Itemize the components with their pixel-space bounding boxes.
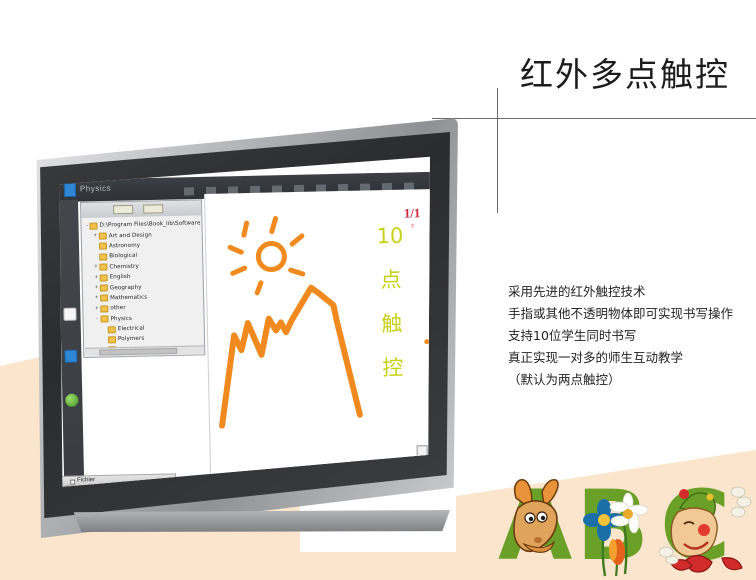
whiteboard-canvas[interactable]: 1/1 页 10 点 触 控 bbox=[204, 189, 430, 492]
abc-decoration: A B C bbox=[498, 478, 756, 580]
feature-item: 支持10位学生同时书写 bbox=[508, 325, 756, 347]
folder-icon bbox=[99, 253, 107, 260]
screen: Physics -D:\Program Files\Book_lib\Softw… bbox=[58, 154, 430, 492]
tree-item-label: other bbox=[110, 305, 126, 311]
feature-item: （默认为两点触控） bbox=[508, 369, 756, 391]
divider-horizontal bbox=[432, 118, 756, 119]
handwriting-char: 点 bbox=[364, 257, 417, 302]
feature-list: 采用先进的红外触控技术 手指或其他不透明物体即可实现书写操作 支持10位学生同时… bbox=[508, 281, 756, 391]
globe-icon[interactable] bbox=[65, 394, 78, 407]
document-icon[interactable] bbox=[63, 308, 76, 321]
interactive-whiteboard: Physics -D:\Program Files\Book_lib\Softw… bbox=[28, 118, 458, 538]
file-tree-panel[interactable]: -D:\Program Files\Book_lib\Software+Art … bbox=[80, 199, 205, 358]
tree-item-label: Optics bbox=[118, 357, 136, 358]
donkey-icon bbox=[514, 480, 558, 553]
divider-vertical bbox=[497, 88, 498, 213]
tree-item-label: Electrical bbox=[118, 326, 145, 333]
tree-button[interactable] bbox=[143, 204, 163, 213]
touch-point-indicator bbox=[424, 339, 429, 344]
folder-icon bbox=[100, 284, 108, 291]
tree-item-label: Polymers bbox=[118, 336, 144, 343]
abc-characters bbox=[498, 478, 756, 580]
folder-icon bbox=[100, 305, 108, 312]
tree-button[interactable] bbox=[113, 205, 133, 214]
folder-icon bbox=[99, 243, 107, 250]
tree-item-label: Astronomy bbox=[109, 243, 140, 250]
tree-item-label: Geography bbox=[110, 284, 142, 291]
page-title: 红外多点触控 bbox=[520, 48, 756, 96]
tree-item-label: Art and Design bbox=[109, 232, 152, 239]
toolbar-label: Fichier bbox=[77, 477, 95, 483]
handwriting-text: 10 点 触 控 bbox=[363, 213, 419, 390]
tree-item-label: Chemistry bbox=[109, 263, 139, 270]
sun-and-mountain-drawing bbox=[213, 209, 368, 432]
flowers-icon bbox=[583, 493, 648, 576]
tree-item-label: English bbox=[110, 274, 131, 280]
book-icon[interactable] bbox=[64, 350, 77, 363]
app-icon bbox=[64, 183, 76, 197]
folder-icon bbox=[108, 336, 116, 343]
folder-icon bbox=[100, 316, 108, 323]
folder-icon bbox=[100, 274, 108, 281]
feature-item: 手指或其他不透明物体即可实现书写操作 bbox=[508, 303, 756, 325]
tree-item-label: Mathematics bbox=[110, 294, 147, 301]
folder-icon bbox=[100, 295, 108, 302]
tree-button-bar bbox=[81, 200, 203, 218]
tree-item-label: D:\Program Files\Book_lib\Software bbox=[100, 221, 201, 229]
feature-item: 采用先进的红外触控技术 bbox=[508, 281, 756, 303]
window-title-text: Physics bbox=[80, 184, 111, 194]
folder-icon bbox=[99, 264, 107, 271]
clown-icon bbox=[659, 487, 751, 572]
feature-item: 真正实现一对多的师生互动教学 bbox=[508, 347, 756, 369]
tree-item-label: Physics bbox=[110, 316, 132, 322]
folder-icon bbox=[90, 222, 98, 229]
toolbar-checkbox[interactable] bbox=[70, 480, 75, 485]
tree-list[interactable]: -D:\Program Files\Book_lib\Software+Art … bbox=[84, 218, 204, 358]
tree-item-label: Biological bbox=[109, 253, 137, 260]
handwriting-char: 控 bbox=[366, 345, 419, 390]
folder-icon bbox=[99, 233, 107, 240]
handwriting-char: 10 bbox=[363, 213, 416, 258]
monitor-base bbox=[66, 510, 450, 532]
handwriting-char: 触 bbox=[365, 301, 418, 346]
folder-icon bbox=[108, 326, 116, 333]
folder-icon bbox=[108, 357, 116, 358]
